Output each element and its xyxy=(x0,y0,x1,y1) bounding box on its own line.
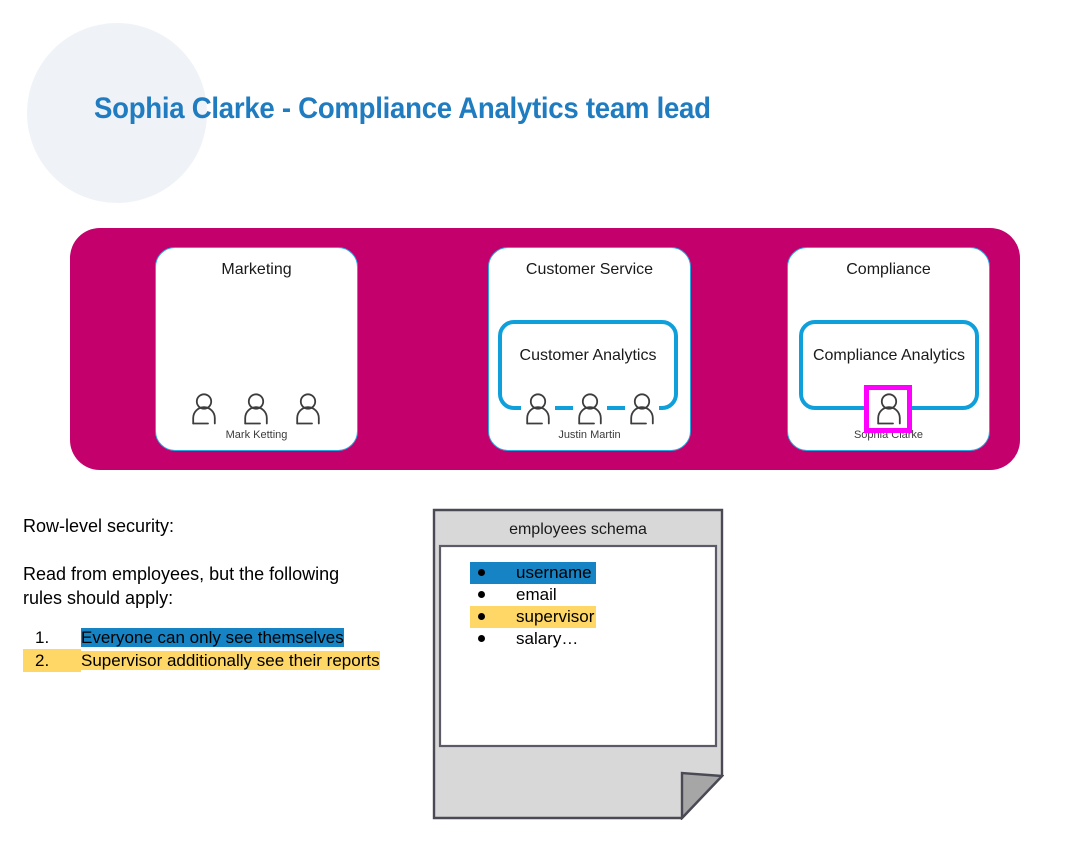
schema-field: email xyxy=(440,584,714,606)
person-icon xyxy=(523,392,553,426)
slide-canvas: Sophia Clarke - Compliance Analytics tea… xyxy=(0,0,1068,842)
person-icon xyxy=(293,392,323,426)
department-title: Compliance xyxy=(788,261,989,279)
bullet-icon xyxy=(478,635,485,642)
bullet-icon xyxy=(478,613,485,620)
employees-schema-document[interactable]: employees schema username email supervis… xyxy=(432,508,724,820)
rule-number: 2. xyxy=(23,649,81,672)
schema-field-list: username email supervisor salary… xyxy=(440,548,714,772)
analytics-team-label: Compliance Analytics xyxy=(803,346,975,366)
schema-field: salary… xyxy=(440,628,714,650)
row-level-security-heading: Row-level security: xyxy=(23,516,174,537)
person-icon xyxy=(189,392,219,426)
row-level-security-body: Read from employees, but the following r… xyxy=(23,562,383,610)
rule-number: 1. xyxy=(23,626,81,649)
bullet-icon xyxy=(478,591,485,598)
field-name: salary… xyxy=(516,628,578,650)
schema-field: username xyxy=(440,562,714,584)
person-icon xyxy=(627,392,657,426)
rule-item: 2. Supervisor additionally see their rep… xyxy=(23,649,395,672)
rules-list: 1. Everyone can only see themselves 2. S… xyxy=(23,626,395,672)
department-owner-label: Mark Ketting xyxy=(156,429,357,441)
field-name: email xyxy=(516,584,557,606)
person-icon xyxy=(241,392,271,426)
field-name: supervisor xyxy=(516,606,594,628)
person-icon xyxy=(575,392,605,426)
rule-text: Supervisor additionally see their report… xyxy=(81,651,380,670)
field-name: username xyxy=(516,562,592,584)
rule-item: 1. Everyone can only see themselves xyxy=(23,626,395,649)
schema-title: employees schema xyxy=(432,521,724,539)
department-title: Marketing xyxy=(156,261,357,279)
bullet-icon xyxy=(478,569,485,576)
department-title: Customer Service xyxy=(489,261,690,279)
schema-field: supervisor xyxy=(440,606,714,628)
rule-text: Everyone can only see themselves xyxy=(81,628,344,647)
person-icon-sophia-clarke xyxy=(874,392,904,426)
page-title: Sophia Clarke - Compliance Analytics tea… xyxy=(94,92,711,126)
analytics-team-label: Customer Analytics xyxy=(502,346,674,366)
department-owner-label: Justin Martin xyxy=(489,429,690,441)
